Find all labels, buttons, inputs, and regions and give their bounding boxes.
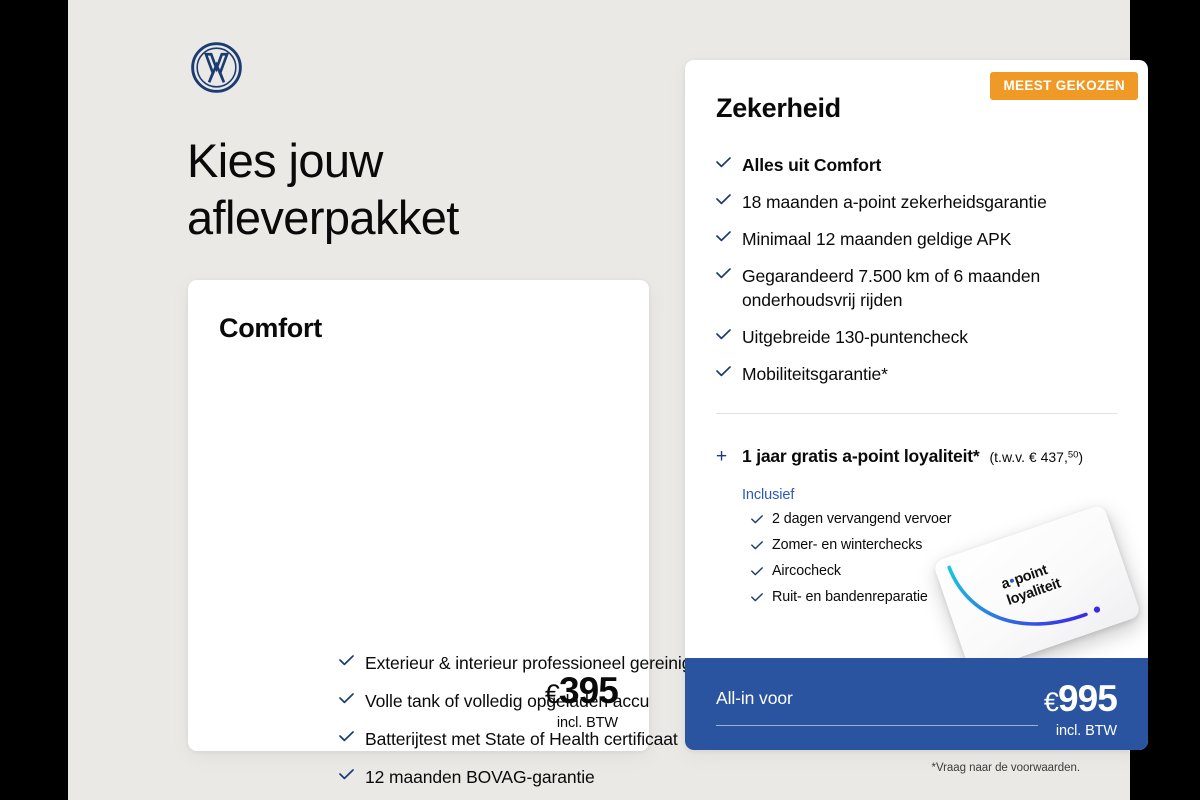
package-card-comfort[interactable]: Comfort Exterieur & interieur profession… bbox=[188, 280, 649, 751]
list-item-label: Ruit- en bandenreparatie bbox=[772, 587, 928, 607]
list-item-label: Exterieur & interieur professioneel gere… bbox=[365, 651, 701, 676]
card-title-zekerheid: Zekerheid bbox=[716, 93, 841, 124]
page-title: Kies jouw afleverpakket bbox=[187, 132, 657, 247]
zekerheid-price-block: €995 incl. BTW bbox=[1044, 680, 1117, 739]
check-icon bbox=[716, 157, 742, 168]
check-icon bbox=[716, 194, 742, 205]
loyalty-value-prefix: (t.w.v. € 437, bbox=[990, 449, 1068, 465]
list-item: 18 maanden a-point zekerheidsgarantie bbox=[716, 190, 1126, 215]
comfort-price-amount: €395 bbox=[545, 672, 618, 709]
check-icon bbox=[339, 655, 365, 666]
footer-label: All-in voor bbox=[716, 688, 793, 709]
volkswagen-logo-icon bbox=[190, 41, 243, 94]
list-item-label: Gegarandeerd 7.500 km of 6 maanden onder… bbox=[742, 264, 1126, 314]
check-icon bbox=[716, 231, 742, 242]
loyalty-value-cents: 50 bbox=[1068, 450, 1079, 461]
footer-rule bbox=[716, 725, 1038, 726]
check-icon bbox=[339, 731, 365, 742]
check-icon bbox=[339, 693, 365, 704]
list-item-label: Zomer- en winterchecks bbox=[772, 535, 922, 555]
price-value: 995 bbox=[1058, 678, 1117, 719]
list-item-label: Aircocheck bbox=[772, 561, 841, 581]
currency-symbol: € bbox=[545, 679, 559, 709]
zekerheid-price-footer: All-in voor €995 incl. BTW bbox=[685, 658, 1148, 750]
card-title-comfort: Comfort bbox=[219, 313, 322, 344]
comfort-price-note: incl. BTW bbox=[545, 715, 618, 731]
list-item: Minimaal 12 maanden geldige APK bbox=[716, 227, 1126, 252]
list-item: Uitgebreide 130-puntencheck bbox=[716, 325, 1126, 350]
list-item-label: Batterijtest met State of Health certifi… bbox=[365, 727, 678, 752]
plus-icon: + bbox=[716, 447, 742, 466]
zekerheid-price-amount: €995 bbox=[1044, 680, 1117, 717]
check-icon bbox=[716, 329, 742, 340]
check-icon bbox=[751, 593, 772, 602]
check-icon bbox=[751, 567, 772, 576]
inclusief-label: Inclusief bbox=[742, 487, 1126, 503]
list-item-label: Mobiliteitsgarantie* bbox=[742, 362, 888, 387]
check-icon bbox=[716, 366, 742, 377]
check-icon bbox=[751, 515, 772, 524]
comfort-price-block: €395 incl. BTW bbox=[545, 672, 618, 731]
zekerheid-feature-list: Alles uit Comfort 18 maanden a-point zek… bbox=[716, 153, 1126, 399]
loyalty-title: 1 jaar gratis a-point loyaliteit* bbox=[742, 446, 980, 467]
list-item-label: Minimaal 12 maanden geldige APK bbox=[742, 227, 1011, 252]
status-badge: MEEST GEKOZEN bbox=[990, 72, 1138, 100]
list-item-label: 12 maanden BOVAG-garantie bbox=[365, 765, 595, 790]
loyalty-value-suffix: ) bbox=[1078, 449, 1083, 465]
check-icon bbox=[751, 541, 772, 550]
list-item: 12 maanden BOVAG-garantie bbox=[339, 765, 759, 790]
list-item-label: Uitgebreide 130-puntencheck bbox=[742, 325, 968, 350]
list-item-label: Alles uit Comfort bbox=[742, 153, 881, 178]
currency-symbol: € bbox=[1044, 687, 1058, 717]
loyalty-header: + 1 jaar gratis a-point loyaliteit* (t.w… bbox=[716, 446, 1126, 467]
section-divider bbox=[716, 413, 1118, 414]
page-title-line-1: Kies jouw bbox=[187, 132, 657, 189]
check-icon bbox=[716, 268, 742, 279]
loyalty-value: (t.w.v. € 437,50) bbox=[990, 449, 1084, 465]
page-canvas: Kies jouw afleverpakket Comfort Exterieu… bbox=[68, 0, 1130, 800]
page-title-line-2: afleverpakket bbox=[187, 189, 657, 246]
check-icon bbox=[339, 769, 365, 780]
price-value: 395 bbox=[559, 670, 618, 711]
list-item: Alles uit Comfort bbox=[716, 153, 1126, 178]
zekerheid-price-note: incl. BTW bbox=[1044, 723, 1117, 739]
list-item-label: 18 maanden a-point zekerheidsgarantie bbox=[742, 190, 1047, 215]
package-card-zekerheid[interactable]: Zekerheid MEEST GEKOZEN Alles uit Comfor… bbox=[685, 60, 1148, 750]
list-item: Gegarandeerd 7.500 km of 6 maanden onder… bbox=[716, 264, 1126, 314]
list-item-label: 2 dagen vervangend vervoer bbox=[772, 509, 951, 529]
list-item: Mobiliteitsgarantie* bbox=[716, 362, 1126, 387]
screenshot-root: Kies jouw afleverpakket Comfort Exterieu… bbox=[0, 0, 1200, 800]
disclaimer-text: *Vraag naar de voorwaarden. bbox=[932, 762, 1080, 774]
